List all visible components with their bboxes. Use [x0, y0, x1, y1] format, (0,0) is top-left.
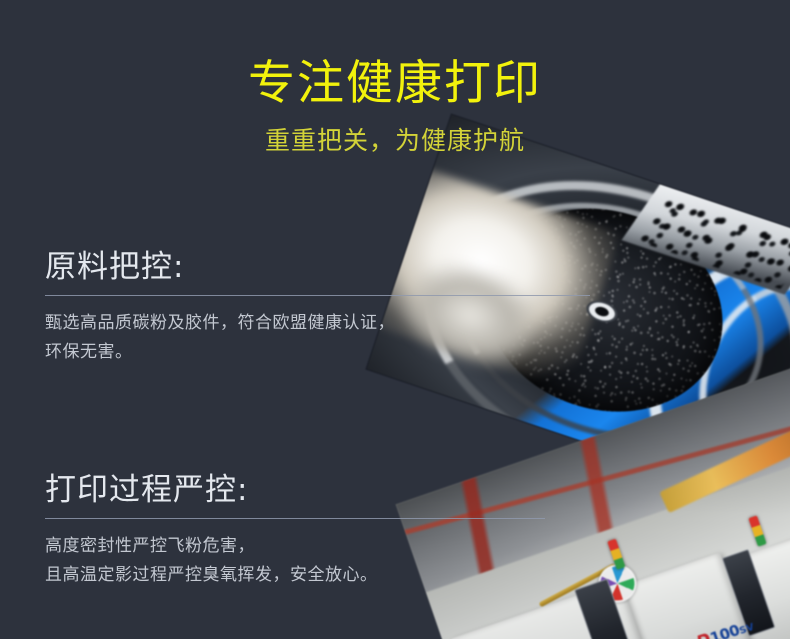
section-material-divider	[45, 295, 590, 296]
status-tower-lamp-2	[748, 515, 766, 546]
page-subtitle: 重重把关，为健康护航	[0, 112, 790, 156]
section-printing-body: 高度密封性严控飞粉危害， 且高温定影过程严控臭氧挥发，安全放心。	[45, 519, 545, 590]
section-material-body: 甄选高品质碳粉及胶件，符合欧盟健康认证， 环保无害。	[45, 296, 590, 367]
page-header: 专注健康打印 重重把关，为健康护航	[0, 0, 790, 156]
promo-page: 专注健康打印 重重把关，为健康护航	[0, 0, 790, 639]
section-printing: 打印过程严控: 高度密封性严控飞粉危害， 且高温定影过程严控臭氧挥发，安全放心。	[45, 470, 545, 590]
section-material-title: 原料把控:	[45, 247, 590, 287]
page-title: 专注健康打印	[0, 0, 790, 112]
section-printing-divider	[45, 518, 545, 519]
section-printing-title: 打印过程严控:	[45, 470, 545, 510]
section-material: 原料把控: 甄选高品质碳粉及胶件，符合欧盟健康认证， 环保无害。	[45, 247, 590, 367]
